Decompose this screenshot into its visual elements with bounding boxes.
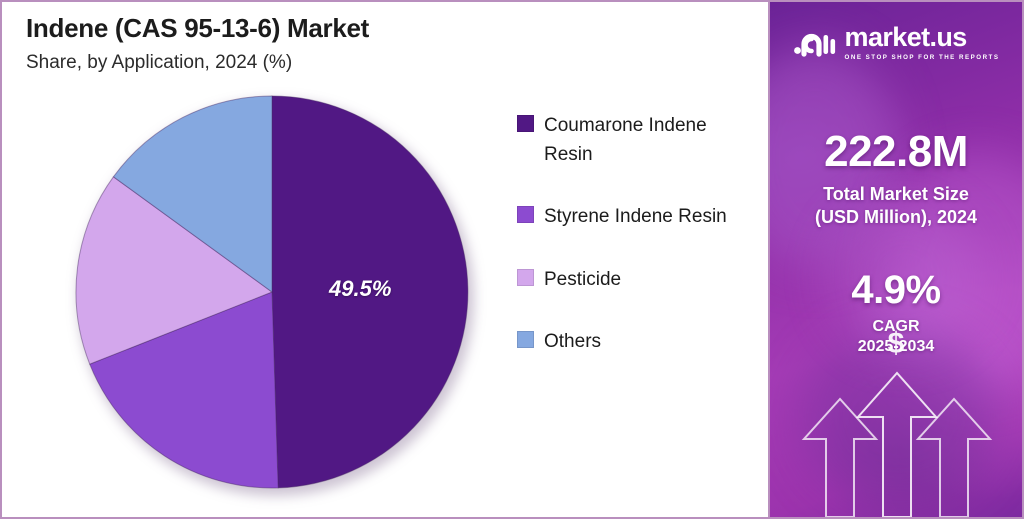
legend-item-styrene-indene-resin[interactable]: Styrene Indene Resin [517, 203, 752, 232]
legend-swatch-icon [517, 269, 534, 286]
page-title: Indene (CAS 95-13-6) Market [26, 12, 646, 45]
chart-legend: Coumarone Indene Resin Styrene Indene Re… [517, 112, 752, 391]
legend-item-label: Styrene Indene Resin [544, 203, 727, 232]
logo-wordmark: market.us [845, 24, 1000, 51]
cagr-value: 4.9% [770, 270, 1022, 310]
logo-tagline: ONE STOP SHOP FOR THE REPORTS [845, 54, 1000, 61]
market-size-value: 222.8M [770, 130, 1022, 174]
pie-svg [74, 94, 476, 496]
stats-panel: market.us ONE STOP SHOP FOR THE REPORTS … [770, 0, 1024, 519]
legend-item-coumarone-indene-resin[interactable]: Coumarone Indene Resin [517, 112, 752, 169]
page-subtitle: Share, by Application, 2024 (%) [26, 51, 646, 76]
legend-item-others[interactable]: Others [517, 328, 752, 357]
pie-chart: 49.5% [74, 94, 476, 496]
dollar-icon: $ [770, 327, 1022, 361]
market-size-caption-line1: Total Market Size [823, 184, 969, 204]
upward-arrows-icon [770, 367, 1024, 517]
market-size-stat: 222.8M Total Market Size (USD Million), … [770, 130, 1022, 228]
legend-item-label: Coumarone Indene Resin [544, 112, 744, 169]
legend-item-pesticide[interactable]: Pesticide [517, 266, 752, 295]
pie-slice-label-primary: 49.5% [329, 276, 391, 302]
brand-logo[interactable]: market.us ONE STOP SHOP FOR THE REPORTS [770, 24, 1022, 61]
chart-panel: Indene (CAS 95-13-6) Market Share, by Ap… [0, 0, 770, 519]
legend-item-label: Others [544, 328, 601, 357]
market-us-logo-icon [793, 27, 837, 59]
legend-swatch-icon [517, 206, 534, 223]
market-size-caption: Total Market Size (USD Million), 2024 [770, 183, 1022, 228]
legend-swatch-icon [517, 331, 534, 348]
legend-swatch-icon [517, 115, 534, 132]
legend-item-label: Pesticide [544, 266, 621, 295]
growth-arrows-graphic: $ [770, 367, 1022, 517]
market-size-caption-line2: (USD Million), 2024 [770, 206, 1022, 229]
chart-header: Indene (CAS 95-13-6) Market Share, by Ap… [26, 12, 646, 75]
infographic-root: Indene (CAS 95-13-6) Market Share, by Ap… [0, 0, 1024, 519]
